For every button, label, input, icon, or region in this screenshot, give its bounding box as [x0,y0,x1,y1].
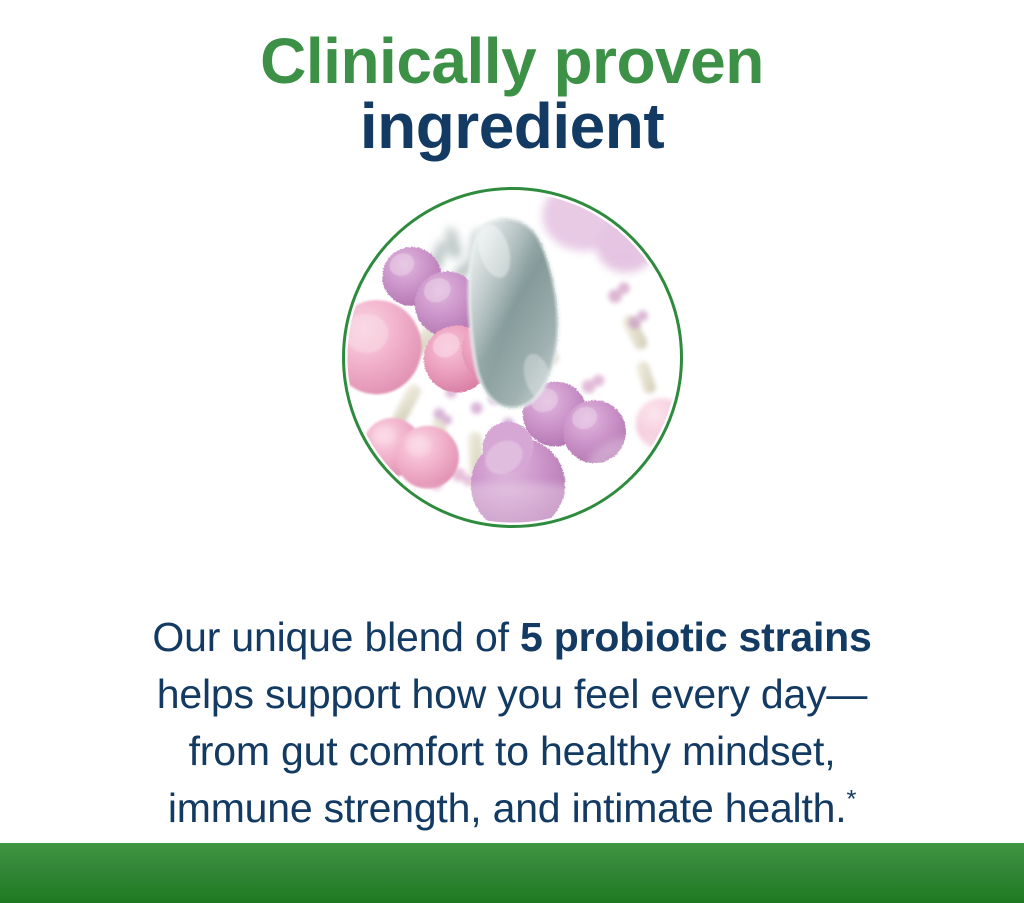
body-line-3: from gut comfort to healthy mindset, [62,723,962,780]
headline-line-navy: ingredient [0,94,1024,159]
headline-line-green: Clinically proven [0,29,1024,94]
body-copy: Our unique blend of 5 probiotic strains … [62,609,962,837]
body-line-1: Our unique blend of 5 probiotic strains [62,609,962,666]
headline: Clinically proven ingredient [0,29,1024,160]
body-line-4: immune strength, and intimate health.* [62,780,962,837]
body-line-2: helps support how you feel every day— [62,666,962,723]
footer-green-bar [0,843,1024,903]
bacteria-illustration [345,190,680,525]
body-line-4-text: immune strength, and intimate health. [168,785,847,831]
product-feature-panel: Clinically proven ingredient [0,0,1024,903]
body-line-1-emphasis: 5 probiotic strains [520,614,872,660]
disclaimer-asterisk: * [846,785,856,813]
probiotic-microscopy-image [342,187,683,528]
body-line-1-prefix: Our unique blend of [152,614,520,660]
